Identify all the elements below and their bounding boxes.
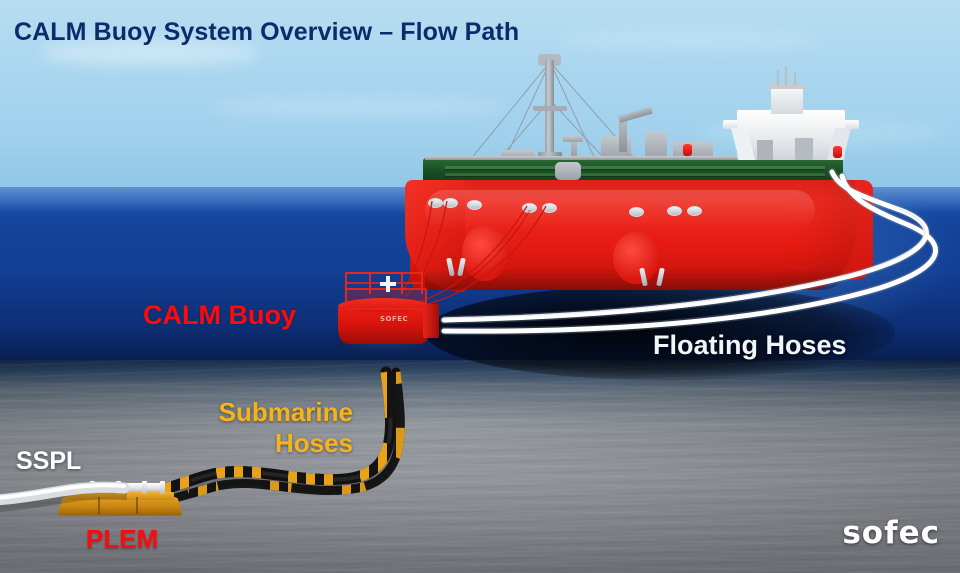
sofec-logo: sofec — [842, 515, 940, 551]
label-floating-hoses: Floating Hoses — [653, 330, 847, 361]
label-plem: PLEM — [86, 524, 158, 555]
label-sspl: SSPL — [16, 447, 81, 476]
label-submarine-hoses-line1: Submarine — [219, 397, 353, 427]
label-submarine-hoses-line2: Hoses — [275, 428, 353, 458]
sspl-pipeline — [0, 0, 960, 573]
label-calm-buoy: CALM Buoy — [143, 300, 296, 331]
calm-buoy-overview-slide: SOFEC — [0, 0, 960, 573]
label-submarine-hoses: SubmarineHoses — [190, 397, 353, 459]
slide-title: CALM Buoy System Overview – Flow Path — [14, 18, 519, 47]
